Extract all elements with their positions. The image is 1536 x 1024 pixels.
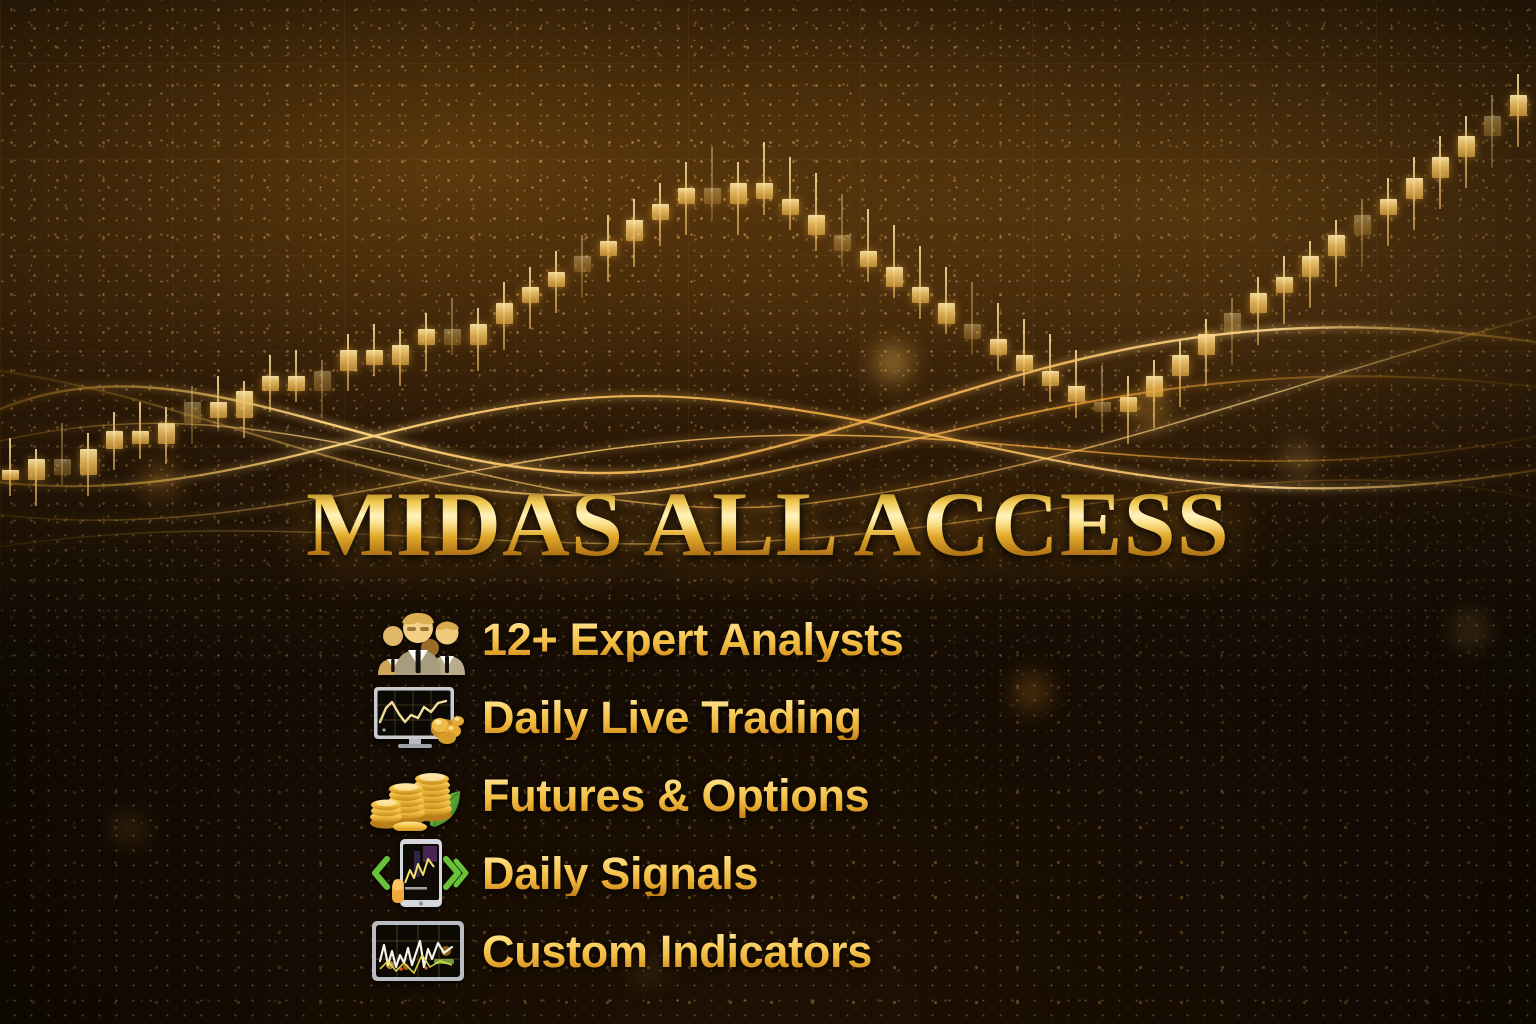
list-item: Daily Live Trading bbox=[368, 678, 1148, 756]
list-item: 12+ Expert Analysts bbox=[368, 600, 1148, 678]
page-title: MIDAS ALL ACCESS bbox=[0, 478, 1536, 570]
list-item-label: Custom Indicators bbox=[482, 929, 872, 974]
list-item-label: Daily Live Trading bbox=[482, 695, 862, 740]
list-item: Custom Indicators bbox=[368, 912, 1148, 990]
list-item-label: Daily Signals bbox=[482, 851, 758, 896]
feature-list: 12+ Expert Analysts bbox=[368, 600, 1148, 990]
monitor-chart-gold-nuggets-icon bbox=[368, 681, 472, 753]
group-of-analysts-icon bbox=[368, 603, 472, 675]
banner-content: MIDAS ALL ACCESS MIDAS ALL ACCESS bbox=[0, 0, 1536, 1024]
banner-canvas: MIDAS ALL ACCESS MIDAS ALL ACCESS bbox=[0, 0, 1536, 1024]
indicator-screen-icon bbox=[368, 915, 472, 987]
tablet-signal-chevrons-icon bbox=[368, 837, 472, 909]
list-item-label: 12+ Expert Analysts bbox=[482, 617, 904, 662]
gold-coin-stacks-leaf-icon bbox=[368, 759, 472, 831]
list-item: Futures & Options bbox=[368, 756, 1148, 834]
list-item-label: Futures & Options bbox=[482, 773, 869, 818]
list-item: Daily Signals bbox=[368, 834, 1148, 912]
